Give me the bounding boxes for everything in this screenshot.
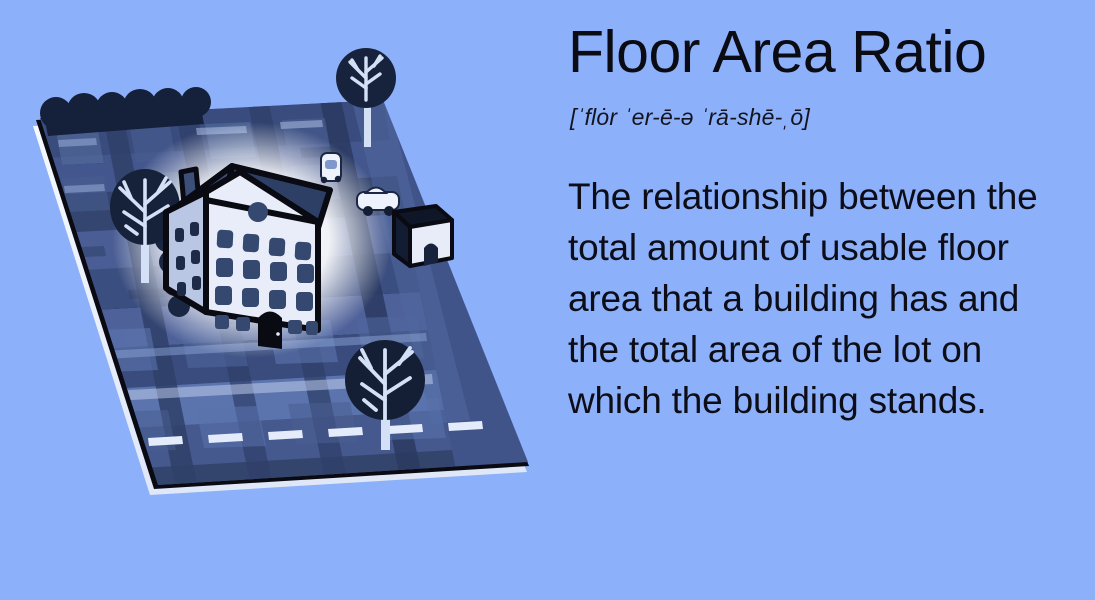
car-upper [321, 153, 341, 183]
outbuilding [394, 206, 452, 266]
text-column: Floor Area Ratio [ˈflȯr ˈer-ē-ə ˈrā-shē-… [568, 22, 1073, 426]
definition-text: The relationship between the total amoun… [568, 171, 1068, 426]
definition-card: Floor Area Ratio [ˈflȯr ˈer-ē-ə ˈrā-shē-… [0, 0, 1095, 600]
page-title: Floor Area Ratio [568, 22, 1073, 84]
house-door [258, 312, 282, 350]
pronunciation: [ˈflȯr ˈer-ē-ə ˈrā-shē-ˌō] [570, 104, 1073, 131]
illustration [0, 0, 560, 600]
